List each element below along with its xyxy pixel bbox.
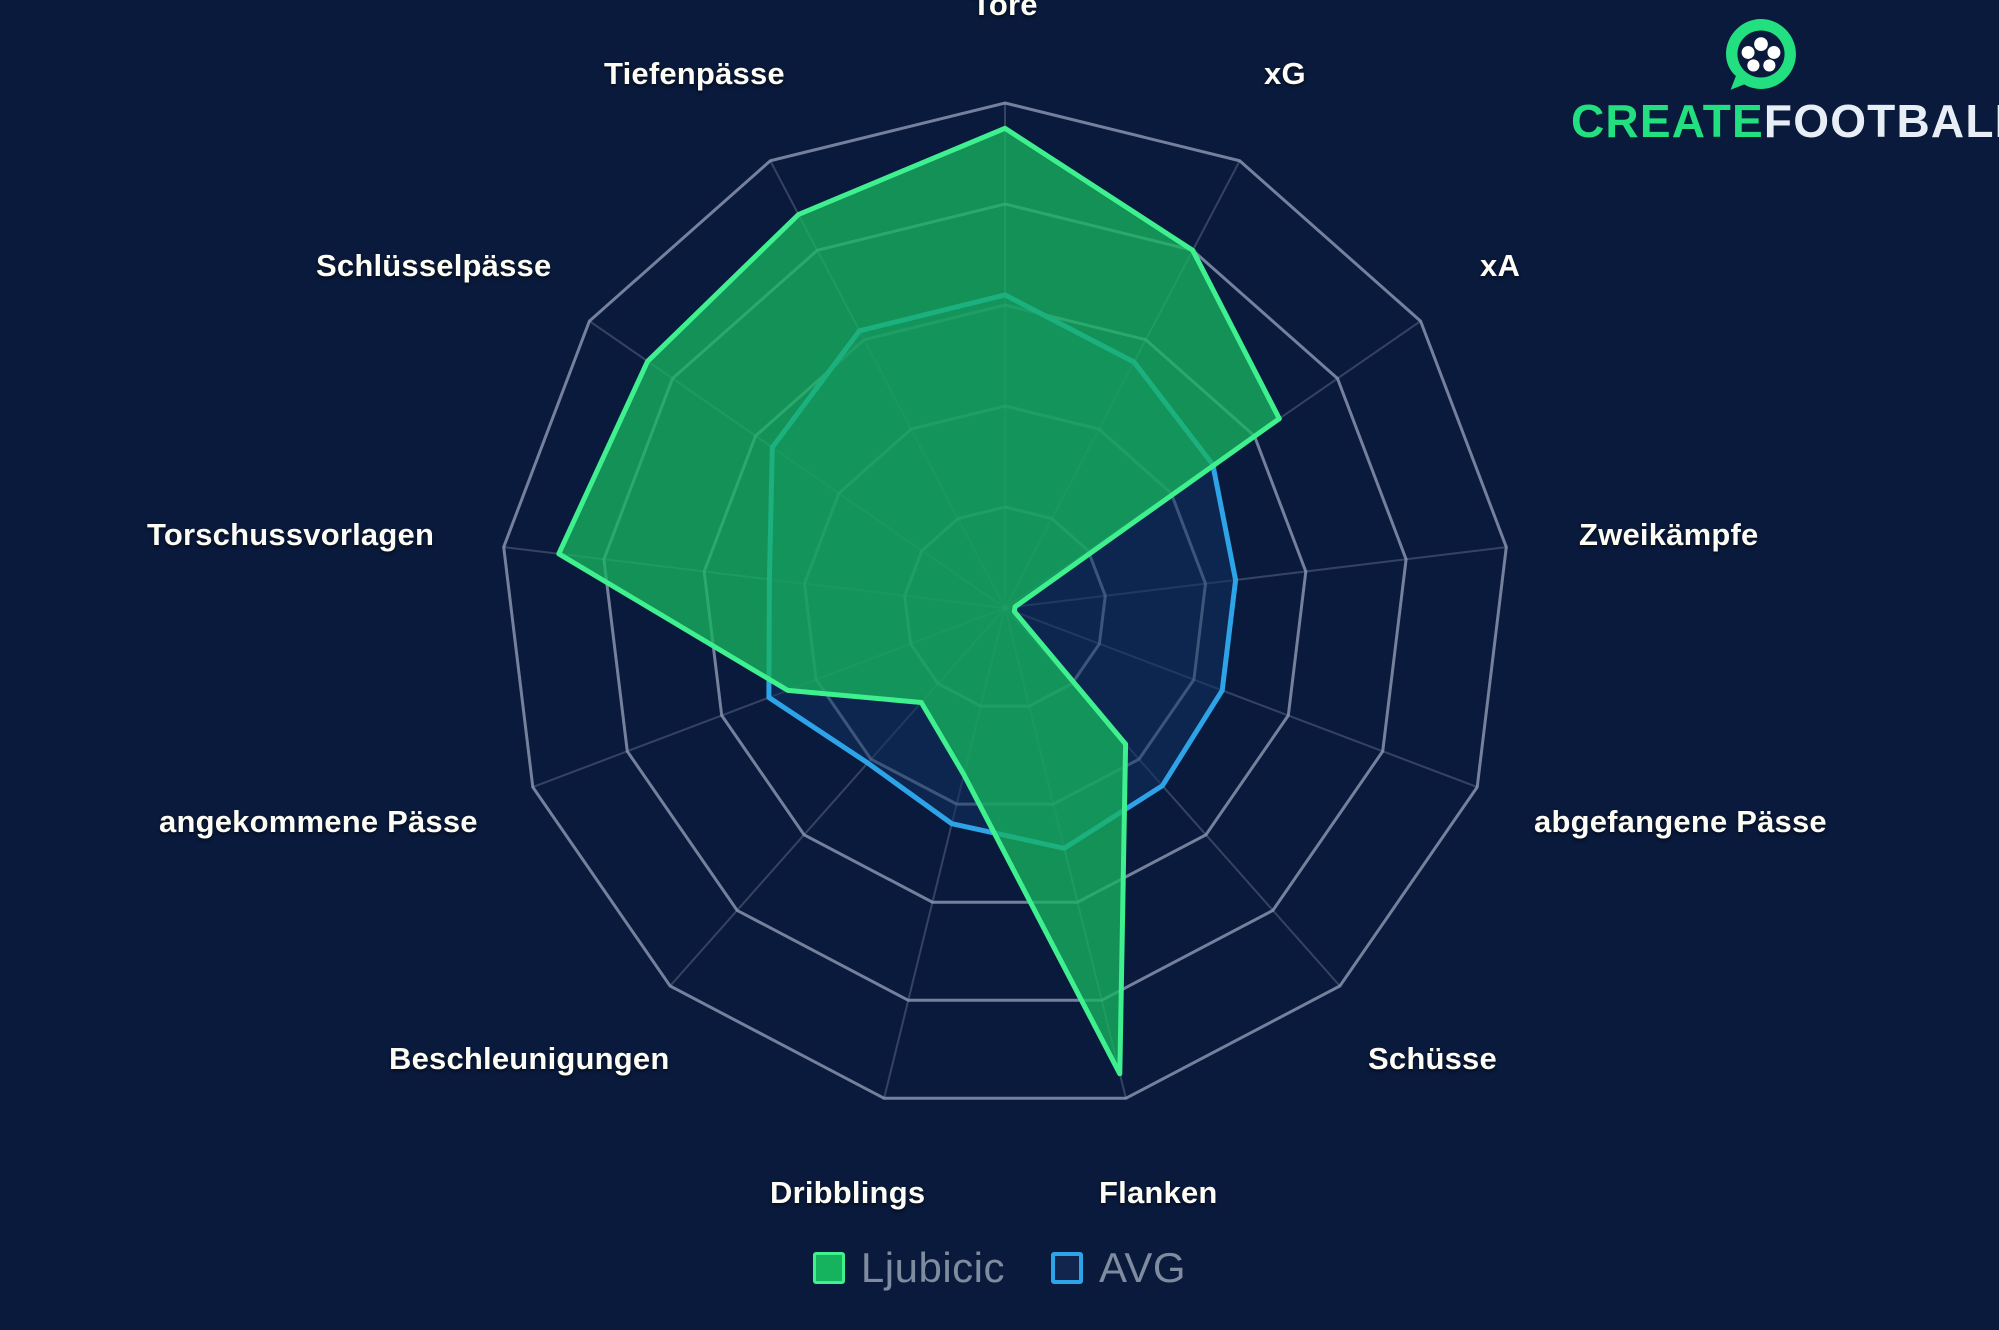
axis-label-tiefenpässe: Tiefenpässe — [604, 56, 785, 92]
axis-label-dribblings: Dribblings — [770, 1175, 925, 1211]
axis-label-abgefangene-pässe: abgefangene Pässe — [1534, 804, 1827, 840]
legend-label: Ljubicic — [861, 1244, 1005, 1292]
soccer-ball-icon — [1723, 16, 1799, 92]
axis-label-tore: Tore — [972, 0, 1038, 23]
logo-text-create: CREATE — [1571, 95, 1764, 147]
axis-label-xa: xA — [1480, 248, 1520, 284]
legend-item-ljubicic[interactable]: Ljubicic — [813, 1244, 1005, 1292]
axis-label-schlüsselpässe: Schlüsselpässe — [316, 248, 551, 284]
chart-legend: LjubicicAVG — [0, 1244, 1999, 1292]
legend-item-avg[interactable]: AVG — [1051, 1244, 1186, 1292]
legend-label: AVG — [1099, 1244, 1186, 1292]
radar-series — [559, 128, 1280, 1074]
axis-label-zweikämpfe: Zweikämpfe — [1579, 517, 1758, 553]
axis-label-angekommene-pässe: angekommene Pässe — [159, 804, 478, 840]
chart-canvas: TorexGxAZweikämpfeabgefangene PässeSchüs… — [0, 0, 1999, 1330]
legend-swatch-icon — [1051, 1252, 1083, 1284]
axis-label-schüsse: Schüsse — [1368, 1041, 1497, 1077]
logo-wordmark: CREATEFOOTBALL — [1571, 94, 1971, 148]
axis-label-beschleunigungen: Beschleunigungen — [389, 1041, 670, 1077]
axis-label-xg: xG — [1264, 56, 1306, 92]
axis-label-flanken: Flanken — [1099, 1175, 1218, 1211]
radar-chart — [0, 0, 1999, 1330]
legend-swatch-icon — [813, 1252, 845, 1284]
axis-label-torschussvorlagen: Torschussvorlagen — [147, 517, 434, 553]
brand-logo: CREATEFOOTBALL — [1571, 10, 1971, 140]
logo-text-football: FOOTBALL — [1764, 95, 1999, 147]
